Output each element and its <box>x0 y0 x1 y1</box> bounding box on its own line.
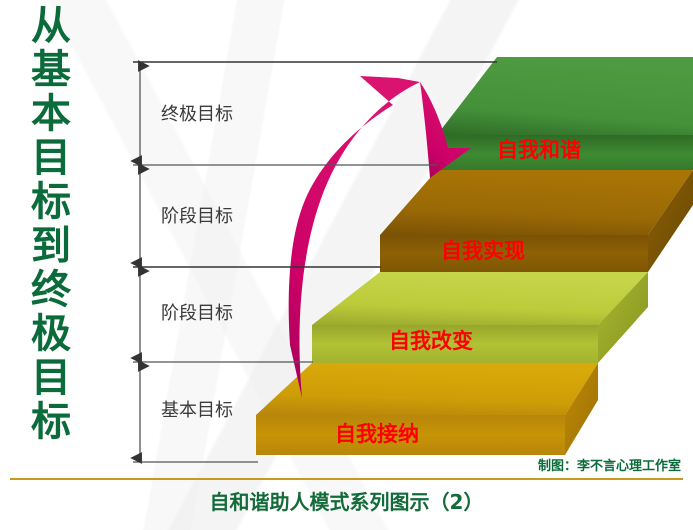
tier-label-stage-2: 阶段目标 <box>161 299 233 325</box>
tier-label-ultimate: 终极目标 <box>161 100 233 126</box>
tier-label-stage-1: 阶段目标 <box>161 202 233 228</box>
tier-label-basic: 基本目标 <box>161 396 233 422</box>
horizontal-rule <box>10 478 683 480</box>
growth-arrow <box>0 0 693 530</box>
step-label-self-actualization: 自我实现 <box>441 235 525 265</box>
step-label-self-change: 自我改变 <box>389 325 473 355</box>
step-label-self-acceptance: 自我接纳 <box>335 418 419 448</box>
slide-canvas: 从基本目标到终极目标 <box>0 0 693 530</box>
slide-caption: 自和谐助人模式系列图示（2） <box>0 486 693 515</box>
step-label-self-harmony: 自我和谐 <box>497 134 581 164</box>
credit-text: 制图：李不言心理工作室 <box>538 455 681 474</box>
